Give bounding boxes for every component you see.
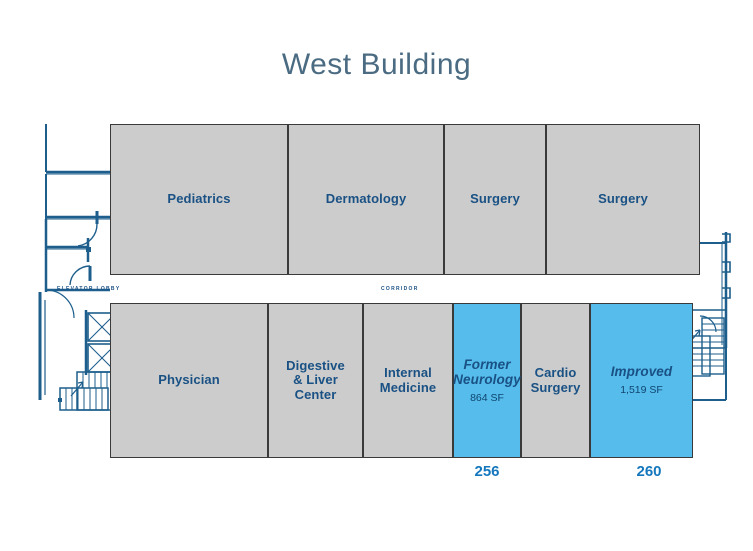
corridor-label: CORRIDOR xyxy=(381,286,419,292)
room-label-line-1: Cardio xyxy=(533,366,579,381)
room-former-neurology[interactable]: Former Neurology 864 SF xyxy=(453,303,521,458)
room-pediatrics[interactable]: Pediatrics xyxy=(110,124,288,275)
room-label: Improved xyxy=(609,364,675,379)
room-surgery-2[interactable]: Surgery xyxy=(546,124,700,275)
room-area-label: 1,519 SF xyxy=(620,385,663,397)
room-label-line-2: Medicine xyxy=(378,381,438,396)
room-label-line-2: & Liver xyxy=(291,373,340,388)
room-dermatology[interactable]: Dermatology xyxy=(288,124,444,275)
room-number-260: 260 xyxy=(619,463,679,480)
floor-plan-canvas: West Building xyxy=(0,0,753,551)
left-exterior-wall xyxy=(40,292,45,400)
room-internal-medicine[interactable]: Internal Medicine xyxy=(363,303,453,458)
room-label-line-2: Surgery xyxy=(529,381,583,396)
room-label-line-1: Former xyxy=(461,357,512,372)
room-surgery-1[interactable]: Surgery xyxy=(444,124,546,275)
room-label-line-1: Internal xyxy=(382,366,434,381)
room-improved[interactable]: Improved 1,519 SF xyxy=(590,303,693,458)
room-digestive-liver-center[interactable]: Digestive & Liver Center xyxy=(268,303,363,458)
room-label: Surgery xyxy=(468,192,522,207)
room-area-label: 864 SF xyxy=(470,393,504,405)
room-label: Pediatrics xyxy=(165,192,232,207)
stairwell-right xyxy=(690,318,724,376)
room-label: Surgery xyxy=(596,192,650,207)
room-label: Physician xyxy=(156,373,222,388)
room-label-line-2: Neurology xyxy=(451,372,523,387)
room-physician[interactable]: Physician xyxy=(110,303,268,458)
left-wing-walls xyxy=(46,124,110,292)
room-label-line-3: Center xyxy=(293,388,339,403)
room-cardio-surgery[interactable]: Cardio Surgery xyxy=(521,303,590,458)
room-label: Dermatology xyxy=(324,192,409,207)
room-label-line-1: Digestive xyxy=(284,359,347,374)
room-number-256: 256 xyxy=(457,463,517,480)
elevator-lobby-label: ELEVATOR LOBBY xyxy=(57,286,120,292)
